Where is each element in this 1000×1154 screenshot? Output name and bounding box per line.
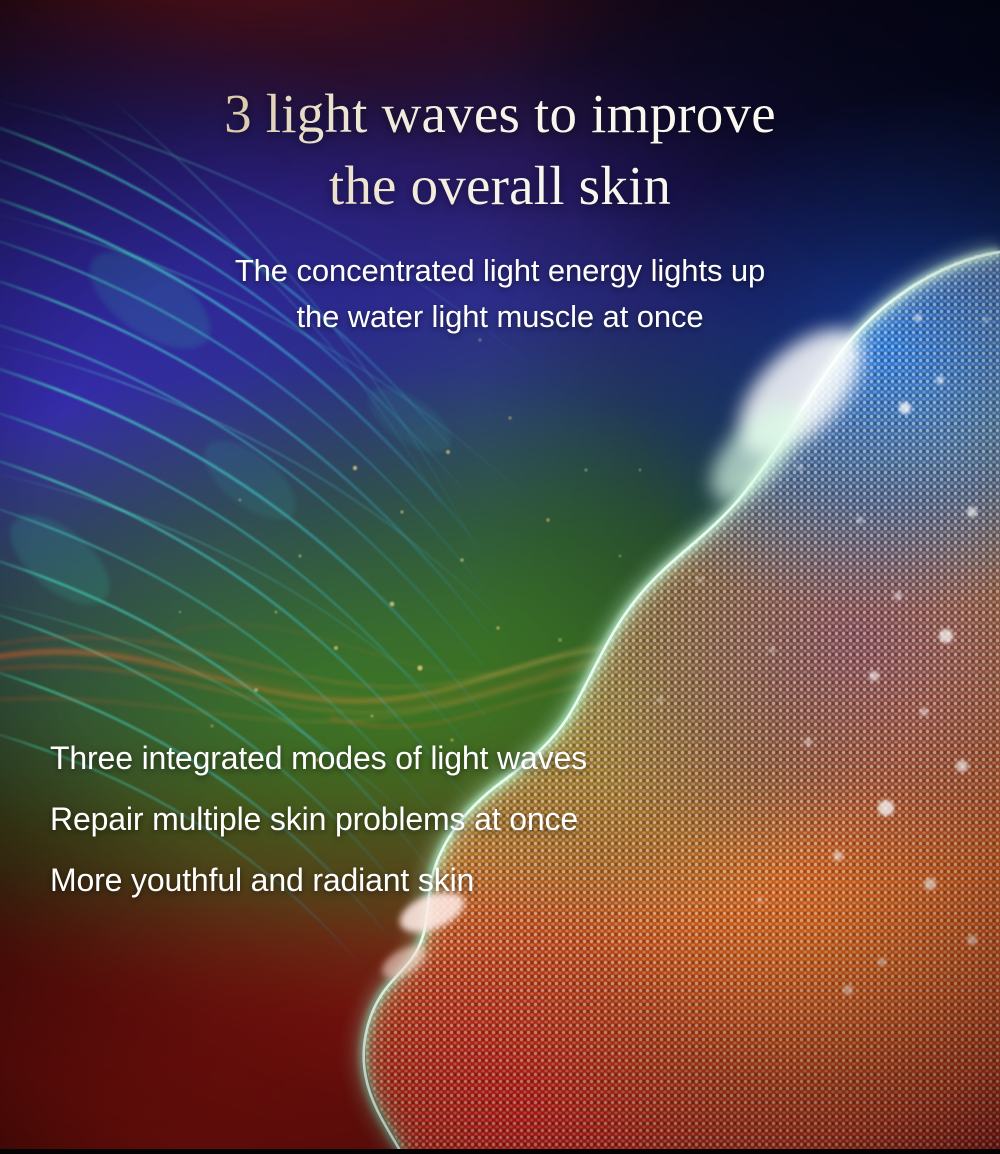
feature-item-2: Repair multiple skin problems at once <box>50 789 587 850</box>
headline-line-1: 3 light waves to improve <box>0 78 1000 150</box>
page-title: 3 light waves to improve the overall ski… <box>0 78 1000 222</box>
subtitle-line-2: the water light muscle at once <box>0 294 1000 340</box>
subtitle-line-1: The concentrated light energy lights up <box>0 248 1000 294</box>
promo-banner: 3 light waves to improve the overall ski… <box>0 0 1000 1154</box>
feature-list: Three integrated modes of light waves Re… <box>50 728 587 911</box>
headline-line-2: the overall skin <box>0 150 1000 222</box>
feature-item-3: More youthful and radiant skin <box>50 850 587 911</box>
feature-item-1: Three integrated modes of light waves <box>50 728 587 789</box>
subtitle: The concentrated light energy lights up … <box>0 248 1000 340</box>
bottom-edge-bar <box>0 1149 1000 1154</box>
